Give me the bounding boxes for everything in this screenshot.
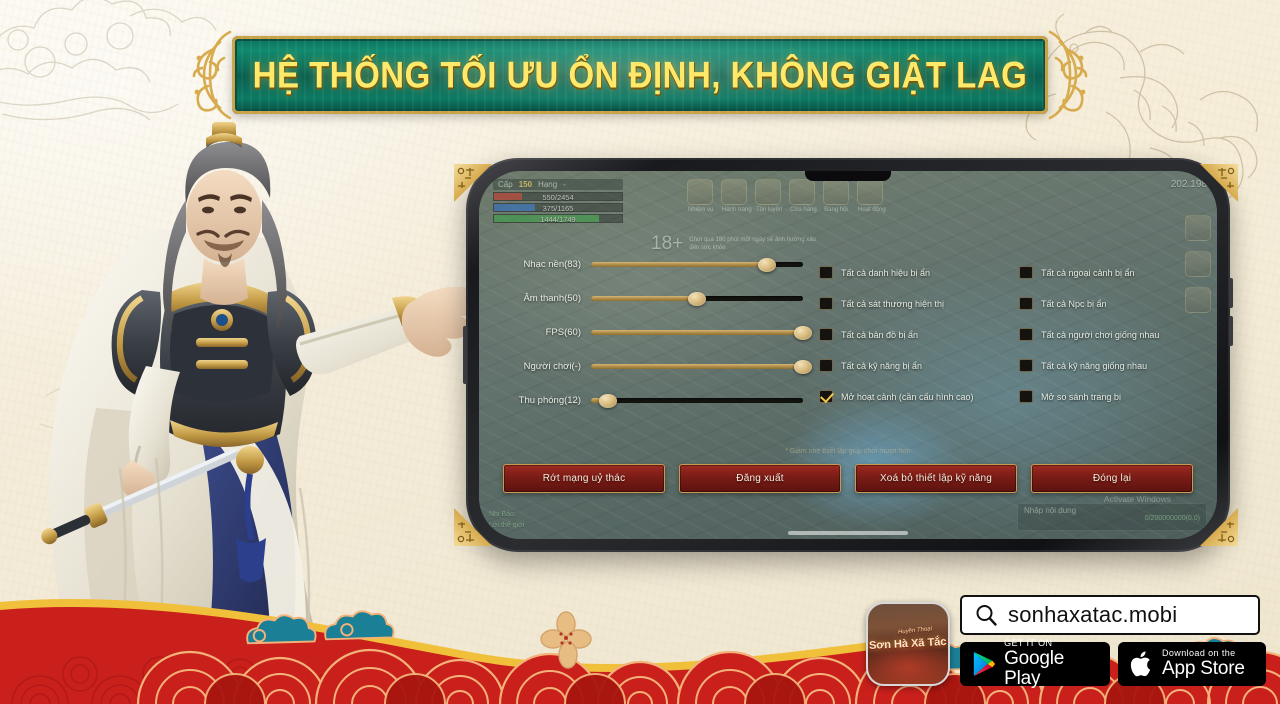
checkbox-show-all-damage[interactable] <box>819 297 833 310</box>
app-store-badge[interactable]: Download on the App Store <box>1118 642 1266 686</box>
checkbox-row-enable-gear-compare[interactable]: Mở so sánh trang bị <box>1019 381 1195 412</box>
store-links-column: sonhaxatac.mobi <box>960 595 1266 686</box>
checkbox-row-same-all-players[interactable]: Tất cả người chơi giống nhau <box>1019 319 1195 350</box>
checkbox-hide-all-titles[interactable] <box>819 266 833 279</box>
settings-sliders-group: Nhạc nền(83) Âm thanh(50) <box>503 249 803 419</box>
slider-label-zoom: Thu phóng(12) <box>503 395 591 406</box>
game-app-icon[interactable]: Huyền Thoại Sơn Hà Xã Tắc <box>866 602 950 686</box>
banner-left-ornament-icon <box>190 28 248 122</box>
settings-checkbox-column-left: Tất cả danh hiệu bị ẩn Tất cả sát thương… <box>819 257 995 412</box>
checkbox-label: Tất cả kỹ năng bị ẩn <box>841 361 922 371</box>
checkbox-hide-all-npc[interactable] <box>1019 297 1033 310</box>
phone-power-button[interactable] <box>463 326 467 384</box>
app-store-big-text: App Store <box>1162 659 1245 679</box>
slider-row-players: Người chơi(-) <box>503 351 803 382</box>
phone-notch <box>805 171 891 181</box>
checkbox-row-hide-all-titles[interactable]: Tất cả danh hiệu bị ẩn <box>819 257 995 288</box>
checkbox-row-hide-all-skills[interactable]: Tất cả kỹ năng bị ẩn <box>819 350 995 381</box>
store-badges-row: Huyền Thoại Sơn Hà Xã Tắc sonhaxatac.mob… <box>866 595 1266 686</box>
slider-knob-zoom[interactable] <box>599 394 617 408</box>
website-url-text: sonhaxatac.mobi <box>1008 602 1177 628</box>
settings-checkbox-grid: Tất cả danh hiệu bị ẩn Tất cả sát thương… <box>819 257 1195 412</box>
corner-ornament-top-left-icon <box>452 162 494 204</box>
checkbox-hide-all-maps[interactable] <box>819 328 833 341</box>
checkbox-label: Tất cả danh hiệu bị ẩn <box>841 268 930 278</box>
red-wave-banner-left <box>0 586 900 704</box>
slider-fill-music <box>591 262 767 267</box>
slider-label-music: Nhạc nền(83) <box>503 259 591 270</box>
slider-row-music: Nhạc nền(83) <box>503 249 803 280</box>
game-settings-overlay: Nhạc nền(83) Âm thanh(50) <box>479 171 1217 539</box>
slider-track-players[interactable] <box>591 364 803 369</box>
settings-checkbox-column-right: Tất cả ngoại cảnh bị ẩn Tất cả Npc bị ẩn… <box>1019 257 1195 412</box>
checkbox-row-hide-all-npc[interactable]: Tất cả Npc bị ẩn <box>1019 288 1195 319</box>
checkbox-enable-gear-compare[interactable] <box>1019 390 1033 403</box>
checkbox-same-all-skills[interactable] <box>1019 359 1033 372</box>
checkbox-same-all-players[interactable] <box>1019 328 1033 341</box>
title-banner: HỆ THỐNG TỐI ƯU ỔN ĐỊNH, KHÔNG GIẬT LAG <box>196 36 1084 114</box>
checkbox-row-same-all-skills[interactable]: Tất cả kỹ năng giống nhau <box>1019 350 1195 381</box>
hero-character-art <box>0 108 520 648</box>
google-play-icon <box>972 650 996 678</box>
slider-label-players: Người chơi(-) <box>503 361 591 372</box>
google-play-text: GET IT ON Google Play <box>1004 639 1098 688</box>
google-play-big-text: Google Play <box>1004 649 1098 689</box>
checkbox-row-enable-cutscenes[interactable]: Mở hoạt cảnh (cần cấu hình cao) <box>819 381 995 412</box>
banner-title-text: HỆ THỐNG TỐI ƯU ỔN ĐỊNH, KHÔNG GIẬT LAG <box>253 54 1028 97</box>
google-play-badge[interactable]: GET IT ON Google Play <box>960 642 1110 686</box>
slider-row-zoom: Thu phóng(12) <box>503 385 803 416</box>
game-icon-title: Sơn Hà Xã Tắc <box>869 636 947 652</box>
checkbox-label: Mở hoạt cảnh (cần cấu hình cao) <box>841 392 973 402</box>
clear-skill-setup-button[interactable]: Xoá bỏ thiết lập kỹ năng <box>855 464 1017 493</box>
slider-knob-music[interactable] <box>758 258 776 272</box>
corner-ornament-bottom-left-icon <box>452 506 494 548</box>
slider-track-zoom[interactable] <box>591 398 803 403</box>
app-store-badges: GET IT ON Google Play Download on the Ap… <box>960 642 1266 686</box>
slider-row-fps: FPS(60) <box>503 317 803 348</box>
phone-body: Cấp 150 Hạng - 550/2454 375/1165 <box>466 158 1230 552</box>
slider-knob-fps[interactable] <box>794 326 812 340</box>
settings-action-buttons: Rớt mạng uỷ thác Đăng xuất Xoá bỏ thiết … <box>503 464 1193 493</box>
phone-home-indicator[interactable] <box>788 531 908 535</box>
checkbox-hide-all-skills[interactable] <box>819 359 833 372</box>
game-icon-subtitle: Huyền Thoại <box>898 626 932 636</box>
checkbox-label: Tất cả Npc bị ẩn <box>1041 299 1107 309</box>
slider-knob-sound[interactable] <box>688 292 706 306</box>
slider-fill-fps <box>591 330 803 335</box>
phone-volume-down-button[interactable] <box>1229 316 1233 346</box>
slider-label-sound: Âm thanh(50) <box>503 293 591 304</box>
phone-volume-up-button[interactable] <box>1229 278 1233 308</box>
website-search-bar[interactable]: sonhaxatac.mobi <box>960 595 1260 635</box>
close-button[interactable]: Đóng lại <box>1031 464 1193 493</box>
promo-banner-root: HỆ THỐNG TỐI ƯU ỔN ĐỊNH, KHÔNG GIẬT LAG <box>0 0 1280 704</box>
corner-ornament-top-right-icon <box>1198 162 1240 204</box>
checkbox-hide-all-scenery[interactable] <box>1019 266 1033 279</box>
slider-row-sound: Âm thanh(50) <box>503 283 803 314</box>
offline-entrust-button[interactable]: Rớt mạng uỷ thác <box>503 464 665 493</box>
checkbox-label: Mở so sánh trang bị <box>1041 392 1121 402</box>
slider-track-fps[interactable] <box>591 330 803 335</box>
slider-knob-players[interactable] <box>794 360 812 374</box>
logout-button[interactable]: Đăng xuất <box>679 464 841 493</box>
banner-right-ornament-icon <box>1032 28 1090 122</box>
settings-note: * Giảm nhẹ thiết lập giúp chơi mượt hơn <box>479 448 1217 455</box>
app-store-text: Download on the App Store <box>1162 649 1245 678</box>
checkbox-row-hide-all-scenery[interactable]: Tất cả ngoại cảnh bị ẩn <box>1019 257 1195 288</box>
slider-label-fps: FPS(60) <box>503 327 591 338</box>
checkbox-row-hide-all-maps[interactable]: Tất cả bản đồ bị ẩn <box>819 319 995 350</box>
checkbox-label: Tất cả bản đồ bị ẩn <box>841 330 918 340</box>
corner-ornament-bottom-right-icon <box>1198 506 1240 548</box>
checkbox-label: Tất cả ngoại cảnh bị ẩn <box>1041 268 1135 278</box>
phone-screen[interactable]: Cấp 150 Hạng - 550/2454 375/1165 <box>479 171 1217 539</box>
checkbox-label: Tất cả người chơi giống nhau <box>1041 330 1159 340</box>
slider-track-music[interactable] <box>591 262 803 267</box>
checkbox-row-show-all-damage[interactable]: Tất cả sát thương hiện thị <box>819 288 995 319</box>
apple-icon <box>1130 650 1154 678</box>
search-icon <box>974 603 998 627</box>
slider-fill-players <box>591 364 803 369</box>
slider-fill-sound <box>591 296 697 301</box>
cloud-watermark-secondary-icon <box>40 300 300 480</box>
checkbox-label: Tất cả kỹ năng giống nhau <box>1041 361 1147 371</box>
checkbox-label: Tất cả sát thương hiện thị <box>841 299 944 309</box>
slider-track-sound[interactable] <box>591 296 803 301</box>
phone-mockup: Cấp 150 Hạng - 550/2454 375/1165 <box>466 158 1230 552</box>
checkbox-enable-cutscenes[interactable] <box>819 390 833 403</box>
